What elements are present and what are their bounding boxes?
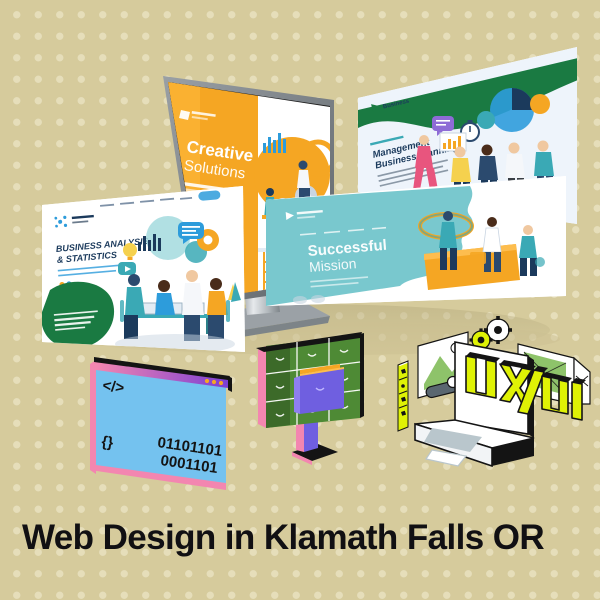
poster-canvas: Creative Solutions	[0, 0, 600, 600]
folder-icon	[294, 364, 344, 414]
toolbar-panel	[398, 361, 410, 431]
svg-text:</>: </>	[101, 377, 125, 397]
business-analysis-card: BUSINESS ANALYSIS & STATISTICS	[41, 186, 247, 356]
code-tag-icon: </>	[101, 377, 125, 397]
file-manager-monitor	[256, 332, 364, 465]
page-title: Web Design in Klamath Falls OR	[22, 516, 582, 560]
code-browser-window: </> {} 01101101 0001101	[90, 357, 232, 490]
hero-illustration: Creative Solutions	[0, 0, 600, 600]
